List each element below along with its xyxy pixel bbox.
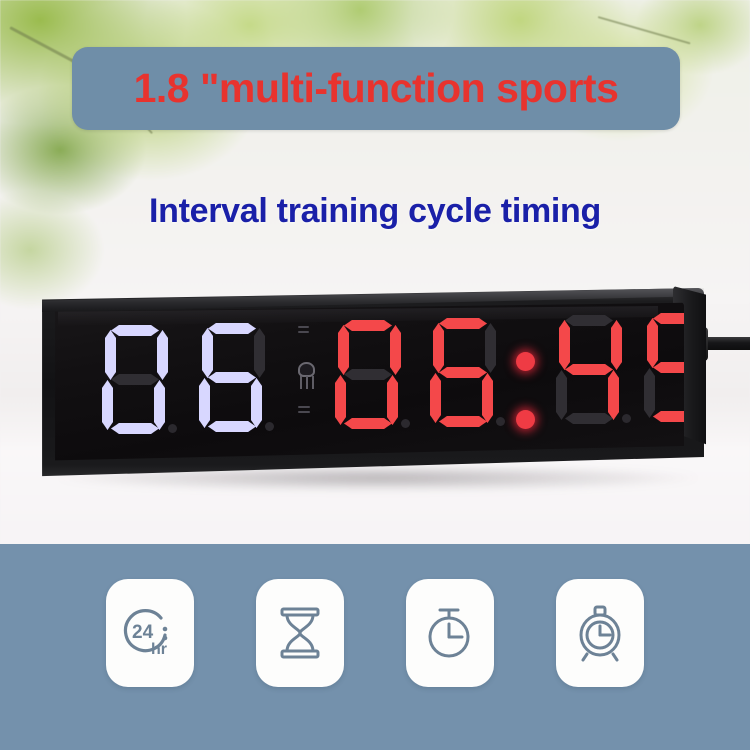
segment-f — [559, 320, 570, 370]
segment-c — [387, 375, 398, 425]
red-digit-2 — [426, 317, 500, 427]
segment-g — [565, 364, 613, 375]
decimal-point — [496, 417, 505, 426]
segment-f — [338, 325, 349, 375]
ir-sensor-icon — [295, 352, 319, 398]
decimal-point — [168, 424, 177, 433]
segment-d — [208, 421, 256, 432]
segment-a — [565, 315, 613, 326]
branch-decoration — [598, 16, 691, 44]
led-interval-timer — [18, 280, 718, 500]
segment-g — [208, 372, 256, 383]
segment-e — [430, 373, 441, 423]
segment-b — [157, 330, 168, 380]
decimal-point — [265, 422, 274, 431]
segment-f — [647, 318, 658, 368]
display-colon-separator — [516, 348, 536, 444]
segment-b — [611, 320, 622, 370]
feature-card-24hr[interactable]: 24 hr — [106, 579, 194, 687]
segment-a — [439, 318, 487, 329]
panel-mark — [298, 411, 310, 413]
sensor-lens — [298, 362, 315, 377]
sensor-leg — [300, 376, 302, 389]
sensor-leg — [306, 376, 308, 389]
decimal-point — [622, 414, 631, 423]
24hr-clock-icon: 24 hr — [121, 604, 179, 662]
segment-f — [202, 328, 213, 378]
decimal-point — [710, 412, 719, 421]
panel-mark — [298, 331, 309, 333]
segment-d — [439, 416, 487, 427]
colon-dot-bottom — [516, 410, 535, 429]
segment-c — [608, 370, 619, 420]
alarm-clock-icon — [573, 604, 627, 662]
segment-d — [565, 413, 613, 424]
segment-e — [335, 375, 346, 425]
feature-card-alarm-clock[interactable] — [556, 579, 644, 687]
segment-a — [208, 323, 256, 334]
segment-c — [482, 373, 493, 423]
red-digit-1 — [331, 319, 405, 429]
panel-mark — [298, 406, 310, 408]
segment-e — [556, 370, 567, 420]
led-display-screen — [50, 302, 684, 462]
svg-text:24: 24 — [132, 622, 154, 643]
page-title: 1.8 "multi-function sports — [134, 68, 619, 109]
segment-a — [111, 325, 159, 336]
subtitle: Interval training cycle timing — [0, 192, 750, 231]
segment-d — [111, 423, 159, 434]
sensor-leg — [312, 376, 314, 389]
red-digit-3 — [552, 314, 626, 424]
feature-card-stopwatch[interactable] — [406, 579, 494, 687]
decimal-point — [401, 419, 410, 428]
title-banner: 1.8 "multi-function sports — [72, 47, 680, 130]
panel-mark — [298, 326, 309, 328]
segment-g — [439, 367, 487, 378]
segment-g — [111, 374, 159, 385]
segment-c — [154, 380, 165, 430]
segment-b — [254, 328, 265, 378]
stopwatch-icon — [423, 604, 477, 662]
segment-c — [251, 378, 262, 428]
feature-card-list: 24 hr — [0, 579, 750, 687]
product-promo-image: 1.8 "multi-function sports Interval trai… — [0, 0, 750, 750]
segment-d — [344, 418, 392, 429]
colon-dot-top — [516, 352, 535, 371]
segment-a — [344, 320, 392, 331]
feature-card-hourglass[interactable] — [256, 579, 344, 687]
segment-e — [102, 380, 113, 430]
blue-digit-1 — [98, 324, 172, 434]
svg-text:hr: hr — [151, 641, 167, 658]
segment-f — [105, 330, 116, 380]
segment-b — [390, 325, 401, 375]
hourglass-icon — [274, 604, 326, 662]
segment-b — [485, 323, 496, 373]
segment-f — [433, 323, 444, 373]
segment-e — [644, 368, 655, 418]
segment-g — [344, 369, 392, 380]
segment-e — [199, 378, 210, 428]
feature-panel: 24 hr — [0, 544, 750, 750]
blue-digit-2 — [195, 322, 269, 432]
